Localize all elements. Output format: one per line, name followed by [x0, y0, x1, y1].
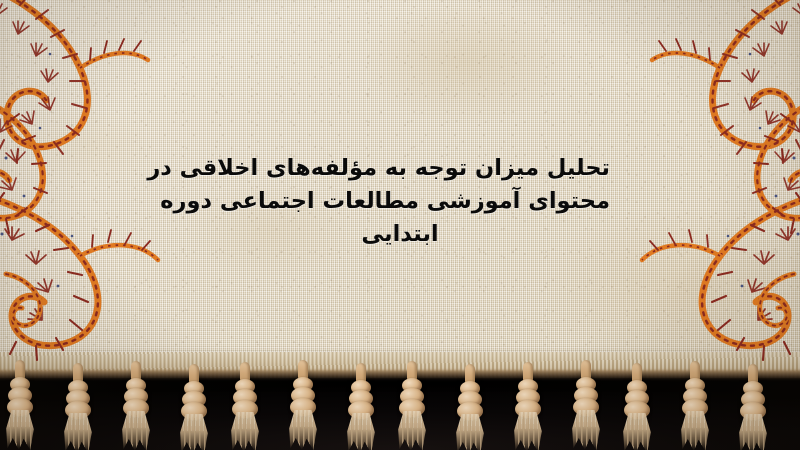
tassel	[286, 360, 320, 448]
tassel	[620, 363, 654, 450]
tassel-fringe	[0, 362, 800, 450]
slide-title: تحلیل میزان توجه به مؤلفه‌های اخلاقی در …	[190, 152, 610, 251]
tassel	[61, 363, 95, 450]
tassel	[228, 362, 262, 450]
tassel	[511, 362, 545, 450]
tassel	[177, 364, 211, 450]
tassel	[678, 361, 712, 449]
slide-canvas: تحلیل میزان توجه به مؤلفه‌های اخلاقی در …	[0, 0, 800, 450]
title-line-2: محتوای آموزشی مطالعات اجتماعی دوره	[190, 185, 610, 218]
title-line-3: ابتدایی	[190, 218, 610, 251]
title-line-1: تحلیل میزان توجه به مؤلفه‌های اخلاقی در	[190, 152, 610, 185]
tassel	[736, 364, 770, 450]
tassel	[344, 363, 378, 450]
tassel	[3, 360, 37, 448]
tassel	[453, 364, 487, 450]
tassel	[569, 360, 603, 448]
tassel	[395, 361, 429, 449]
tassel	[119, 361, 153, 449]
